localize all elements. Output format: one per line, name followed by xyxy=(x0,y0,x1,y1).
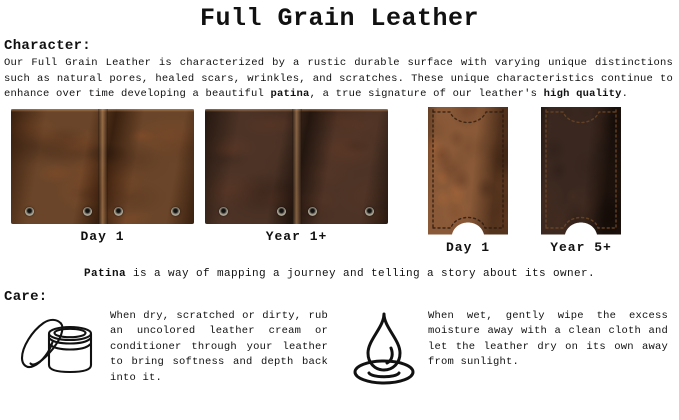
care-text-dry: When dry, scratched or dirty, rub an unc… xyxy=(110,309,328,387)
figure-wallet-day-1: Day 1 xyxy=(11,109,194,244)
leather-gallery: Day 1 Year 1+ xyxy=(0,109,679,259)
rivet xyxy=(114,207,123,216)
leather-photo-wallet-aged xyxy=(205,109,388,224)
leather-grain-texture xyxy=(537,107,625,235)
character-bold-patina: patina xyxy=(271,88,310,100)
leather-grain-texture xyxy=(424,107,512,235)
character-heading: Character: xyxy=(4,38,679,54)
rivet xyxy=(308,207,317,216)
wallet-image-aged xyxy=(205,109,388,224)
rivet xyxy=(277,207,286,216)
rivet xyxy=(219,207,228,216)
figure-caption: Year 5+ xyxy=(537,240,625,255)
leather-photo-sleeve-aged xyxy=(537,107,625,235)
patina-note-bold: Patina xyxy=(84,268,126,280)
wallet-spine xyxy=(98,109,108,224)
rivet xyxy=(83,207,92,216)
sleeve-image-new xyxy=(424,107,512,235)
water-droplet-icon xyxy=(348,309,420,389)
sleeve-image-aged xyxy=(537,107,625,235)
figure-sleeve-year-5-plus: Year 5+ xyxy=(537,107,625,255)
character-bold-high-quality: high quality xyxy=(544,88,622,100)
care-items-row: When dry, scratched or dirty, rub an unc… xyxy=(0,307,679,389)
wallet-spine xyxy=(292,109,302,224)
figure-caption: Year 1+ xyxy=(205,229,388,244)
cream-jar-icon xyxy=(12,313,104,375)
figure-caption: Day 1 xyxy=(424,240,512,255)
rivet xyxy=(365,207,374,216)
leather-photo-sleeve-new xyxy=(424,107,512,235)
figure-sleeve-day-1: Day 1 xyxy=(424,107,512,255)
page-title: Full Grain Leather xyxy=(0,0,679,34)
leather-photo-wallet-day-1 xyxy=(11,109,194,224)
care-text-wet: When wet, gently wipe the excess moistur… xyxy=(428,309,668,371)
figure-wallet-year-1-plus: Year 1+ xyxy=(205,109,388,244)
leather-info-page: Full Grain Leather Character: Our Full G… xyxy=(0,0,679,420)
character-paragraph-part3: . xyxy=(622,88,629,100)
patina-note: Patina is a way of mapping a journey and… xyxy=(0,268,679,280)
care-item-wet: When wet, gently wipe the excess moistur… xyxy=(340,307,679,389)
figure-caption: Day 1 xyxy=(11,229,194,244)
care-heading: Care: xyxy=(4,289,679,305)
wallet-image-new xyxy=(11,109,194,224)
character-paragraph-part2: , a true signature of our leather's xyxy=(310,88,544,100)
rivet xyxy=(171,207,180,216)
care-item-dry: When dry, scratched or dirty, rub an unc… xyxy=(0,307,340,387)
character-paragraph: Our Full Grain Leather is characterized … xyxy=(4,56,673,103)
patina-note-text: is a way of mapping a journey and tellin… xyxy=(126,268,595,280)
rivet xyxy=(25,207,34,216)
